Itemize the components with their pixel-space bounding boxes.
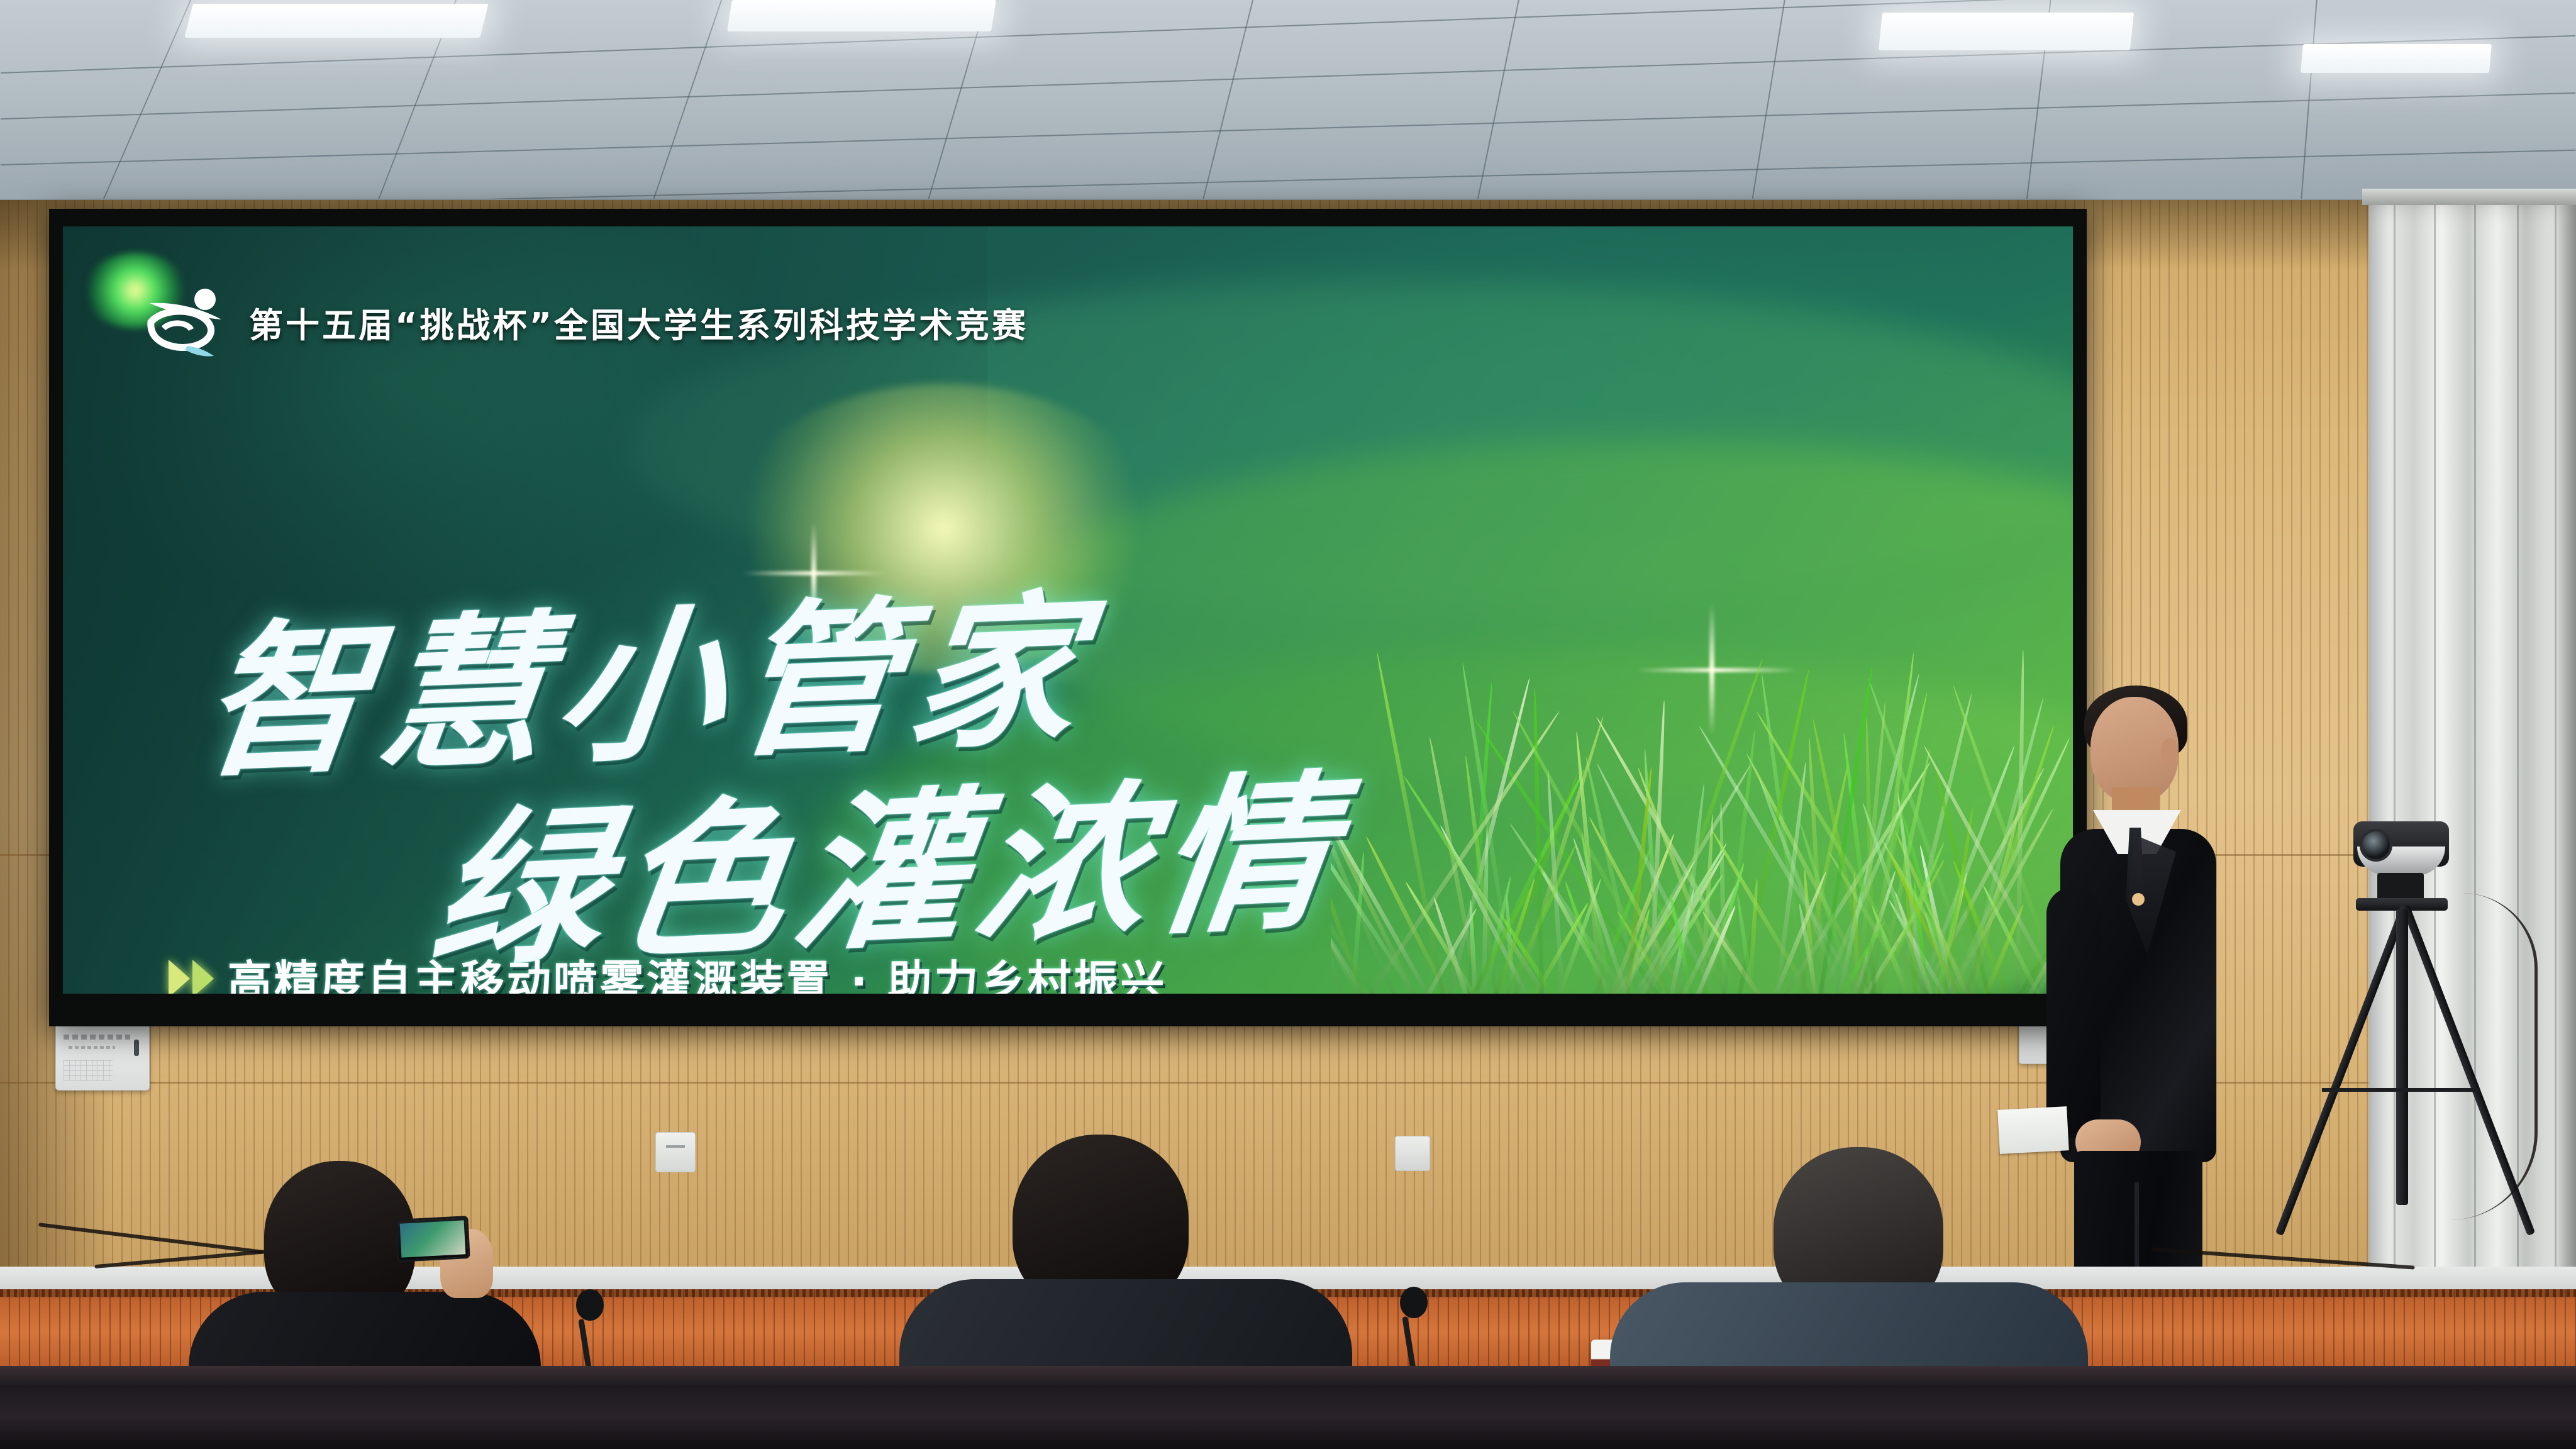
camera-lens-icon bbox=[2360, 829, 2392, 862]
slide-subtitle: 高精度自主移动喷雾灌溉装置 · 助力乡村振兴 bbox=[228, 947, 1167, 994]
tripod-leg bbox=[2275, 904, 2409, 1236]
slide-header: 第十五届“挑战杯”全国大学生系列科技学术竞赛 bbox=[138, 284, 1028, 360]
ceiling bbox=[0, 0, 2576, 208]
presentation-hall-photo: 第十五届“挑战杯”全国大学生系列科技学术竞赛 智慧小管家 绿色灌浓情 高精度自主… bbox=[0, 0, 2576, 1449]
judges-table bbox=[0, 1366, 2576, 1449]
chevron-right-icon bbox=[169, 960, 190, 994]
ceiling-light bbox=[1879, 13, 2134, 50]
tripod-center-column bbox=[2396, 909, 2408, 1205]
presenter-arm bbox=[2046, 887, 2101, 1138]
wall-socket[interactable] bbox=[1395, 1136, 1430, 1171]
competition-title: 第十五届“挑战杯”全国大学生系列科技学术竞赛 bbox=[249, 297, 1028, 347]
wall-socket[interactable] bbox=[655, 1132, 696, 1172]
presenter-handout bbox=[1997, 1106, 2069, 1154]
challenge-cup-logo bbox=[138, 284, 233, 360]
presenter-lapel-pin bbox=[2132, 893, 2145, 906]
smartphone[interactable] bbox=[395, 1216, 470, 1262]
ceiling-light bbox=[2301, 44, 2492, 73]
led-video-wall: 第十五届“挑战杯”全国大学生系列科技学术竞赛 智慧小管家 绿色灌浓情 高精度自主… bbox=[49, 209, 2087, 1026]
ceiling-light bbox=[184, 4, 488, 38]
slide-content: 第十五届“挑战杯”全国大学生系列科技学术竞赛 智慧小管家 绿色灌浓情 高精度自主… bbox=[63, 226, 2073, 994]
slide-subtitle-row: 高精度自主移动喷雾灌溉装置 · 助力乡村振兴 bbox=[169, 947, 1167, 994]
curtain-rail bbox=[2362, 189, 2576, 205]
camera-cable bbox=[2440, 893, 2538, 1220]
rice-plants-illustration bbox=[1331, 553, 2073, 994]
ceiling-light bbox=[727, 0, 996, 31]
wall-control-panel-left[interactable] bbox=[55, 1020, 150, 1091]
ptz-camera-on-tripod bbox=[2283, 818, 2522, 1296]
chevron-right-icon bbox=[192, 960, 214, 994]
presenter-ear bbox=[2161, 738, 2179, 763]
